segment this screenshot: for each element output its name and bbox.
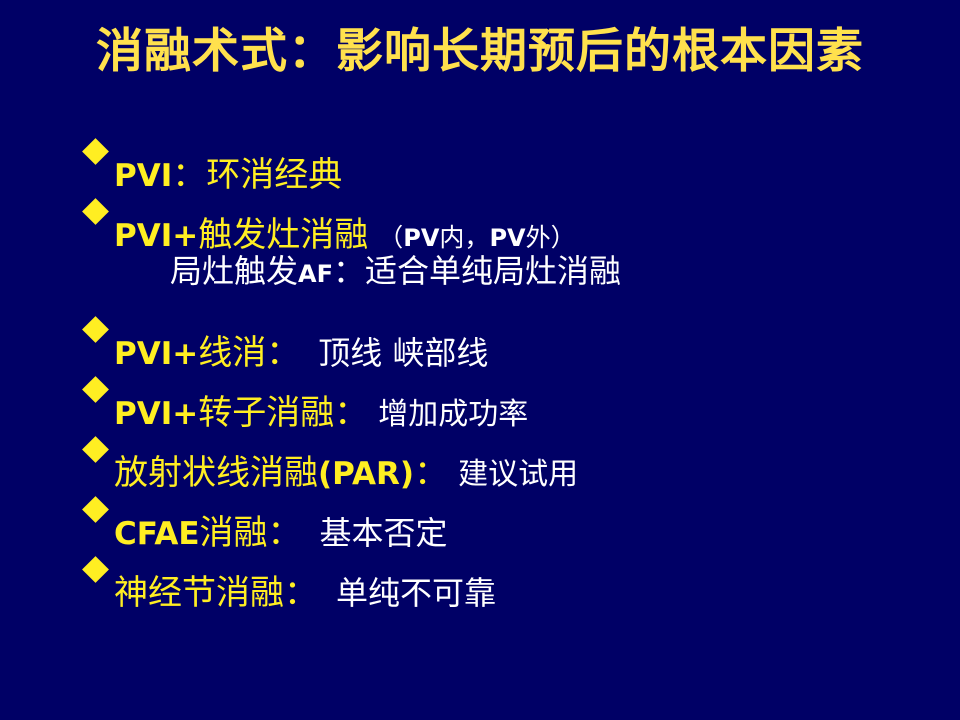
diamond-bullet-icon xyxy=(84,484,114,544)
bullet-latin-text: CFAE xyxy=(114,516,200,552)
bullet-latin-text: PVI+ xyxy=(114,396,198,432)
diamond-bullet-icon xyxy=(84,544,114,604)
bullet-list: PVI ：环消经典 PVI+ 触发灶消融 （ PV 内， PV 外 ） 局灶触发… xyxy=(84,126,944,604)
bullet-annotation: 顶线 峡部线 xyxy=(318,328,488,374)
bullet-han-text: 消融： xyxy=(200,505,302,554)
bullet-han-text: 线消： xyxy=(198,325,300,374)
bullet-annotation: 基本否定 xyxy=(320,508,448,554)
list-item: PVI+ 线消： 顶线 峡部线 xyxy=(84,304,944,364)
bullet-han-lead: 神经节消融： xyxy=(114,565,318,614)
sub-latin: AF xyxy=(298,260,333,288)
diamond-bullet-icon xyxy=(84,424,114,484)
bullet-annotation: 单纯不可靠 xyxy=(336,568,496,614)
diamond-bullet-icon xyxy=(84,186,114,246)
bullet-latin-text: PVI+ xyxy=(114,336,198,372)
diamond-bullet-icon xyxy=(84,364,114,424)
presentation-slide: 消融术式：影响长期预后的根本因素 PVI ：环消经典 PVI+ 触发灶消融 （ … xyxy=(0,0,960,720)
bullet-han-text: ：环消经典 xyxy=(172,147,342,196)
list-item: PVI ：环消经典 xyxy=(84,126,944,186)
bullet-annotation: 建议试用 xyxy=(458,449,578,493)
sub-han-lead: 局灶触发 xyxy=(170,246,298,292)
page-title: 消融术式：影响长期预后的根本因素 xyxy=(0,24,960,80)
diamond-bullet-icon xyxy=(84,304,114,364)
list-item-sub: 局灶触发 AF ：适合单纯局灶消融 xyxy=(84,246,944,304)
bullet-annotation: 增加成功率 xyxy=(378,389,528,433)
bullet-latin-text: PVI xyxy=(114,158,172,194)
bullet-han-lead: 放射状线消融 xyxy=(114,445,318,494)
bullet-latin-text: (PAR) xyxy=(318,456,414,492)
bullet-han-text: 转子消融： xyxy=(198,385,368,434)
sub-han-tail: ：适合单纯局灶消融 xyxy=(333,246,621,292)
diamond-bullet-icon xyxy=(84,126,114,186)
bullet-han-tail: ： xyxy=(414,445,448,494)
